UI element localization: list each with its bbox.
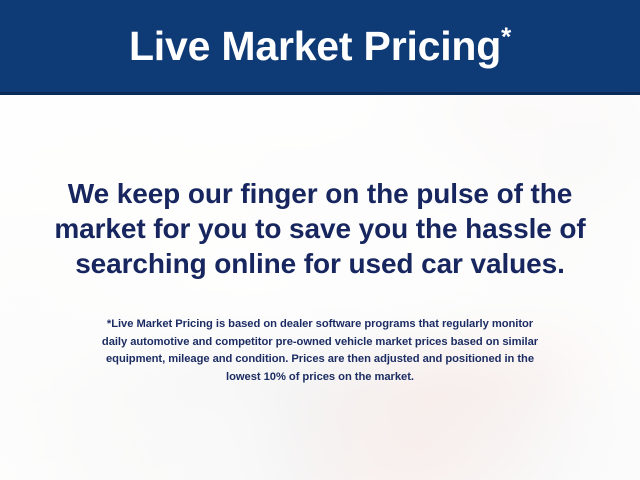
disclaimer-line: *Live Market Pricing is based on dealer …: [0, 316, 640, 334]
page-title: Live Market Pricing*: [129, 26, 511, 67]
header-divider: [0, 92, 640, 95]
disclaimer-line: equipment, mileage and condition. Prices…: [0, 351, 640, 369]
live-market-pricing-banner: Live Market Pricing* We keep our finger …: [0, 0, 640, 480]
disclaimer-line: lowest 10% of prices on the market.: [0, 369, 640, 387]
main-content: We keep our finger on the pulse of the m…: [0, 94, 640, 480]
headline-line: searching online for used car values.: [0, 246, 640, 281]
headline-block: We keep our finger on the pulse of the m…: [0, 176, 640, 281]
title-asterisk: *: [501, 21, 511, 51]
header-banner: Live Market Pricing*: [0, 0, 640, 92]
headline-line: We keep our finger on the pulse of the: [0, 176, 640, 211]
disclaimer-line: daily automotive and competitor pre-owne…: [0, 334, 640, 352]
page-title-text: Live Market Pricing: [129, 23, 501, 69]
headline-line: market for you to save you the hassle of: [0, 211, 640, 246]
disclaimer-block: *Live Market Pricing is based on dealer …: [0, 316, 640, 386]
